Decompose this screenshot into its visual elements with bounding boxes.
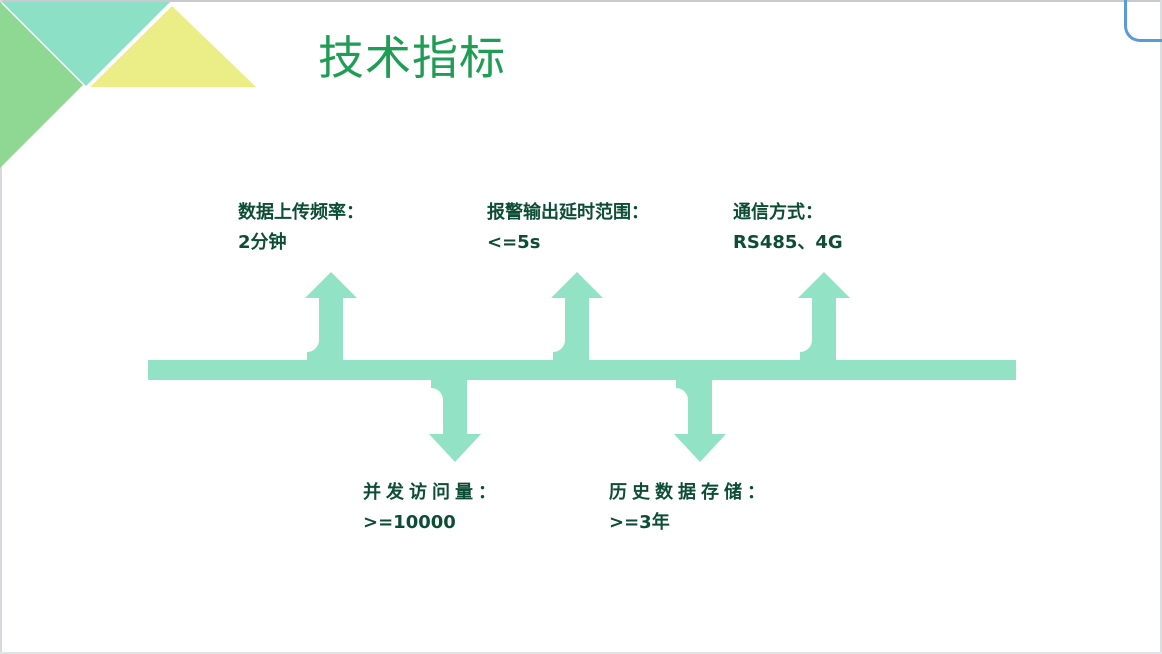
label-history-storage-value: >=3年	[609, 508, 770, 538]
label-alarm-delay-title: 报警输出延时范围：	[487, 198, 649, 228]
diagram-spine	[148, 360, 1016, 380]
branch-arrow-down-concurrency	[429, 378, 481, 462]
label-concurrency-value: >=10000	[363, 508, 501, 538]
yellow-triangle-icon	[90, 6, 256, 87]
branch-arrow-up-upload-frequency	[305, 272, 357, 363]
label-upload-frequency-title: 数据上传频率：	[238, 198, 364, 228]
page-title: 技术指标	[318, 28, 506, 88]
slide-canvas: 技术指标	[0, 0, 1162, 654]
blue-rounded-corner-accent	[1124, 0, 1162, 42]
label-communication-title: 通信方式：	[733, 198, 843, 228]
decorative-corner-graphic	[0, 0, 262, 172]
label-upload-frequency: 数据上传频率： 2分钟	[238, 198, 364, 258]
label-history-storage-title: 历史数据存储：	[609, 478, 770, 508]
label-alarm-delay: 报警输出延时范围： <=5s	[487, 198, 649, 258]
label-concurrency: 并发访问量： >=10000	[363, 478, 501, 538]
label-history-storage: 历史数据存储： >=3年	[609, 478, 770, 538]
branch-arrow-up-alarm-delay	[551, 272, 603, 363]
label-upload-frequency-value: 2分钟	[238, 228, 364, 258]
label-communication: 通信方式： RS485、4G	[733, 198, 843, 258]
branch-arrow-up-communication	[798, 272, 850, 363]
label-concurrency-title: 并发访问量：	[363, 478, 501, 508]
label-communication-value: RS485、4G	[733, 228, 843, 258]
branch-arrow-down-history-storage	[674, 378, 726, 462]
label-alarm-delay-value: <=5s	[487, 228, 649, 258]
